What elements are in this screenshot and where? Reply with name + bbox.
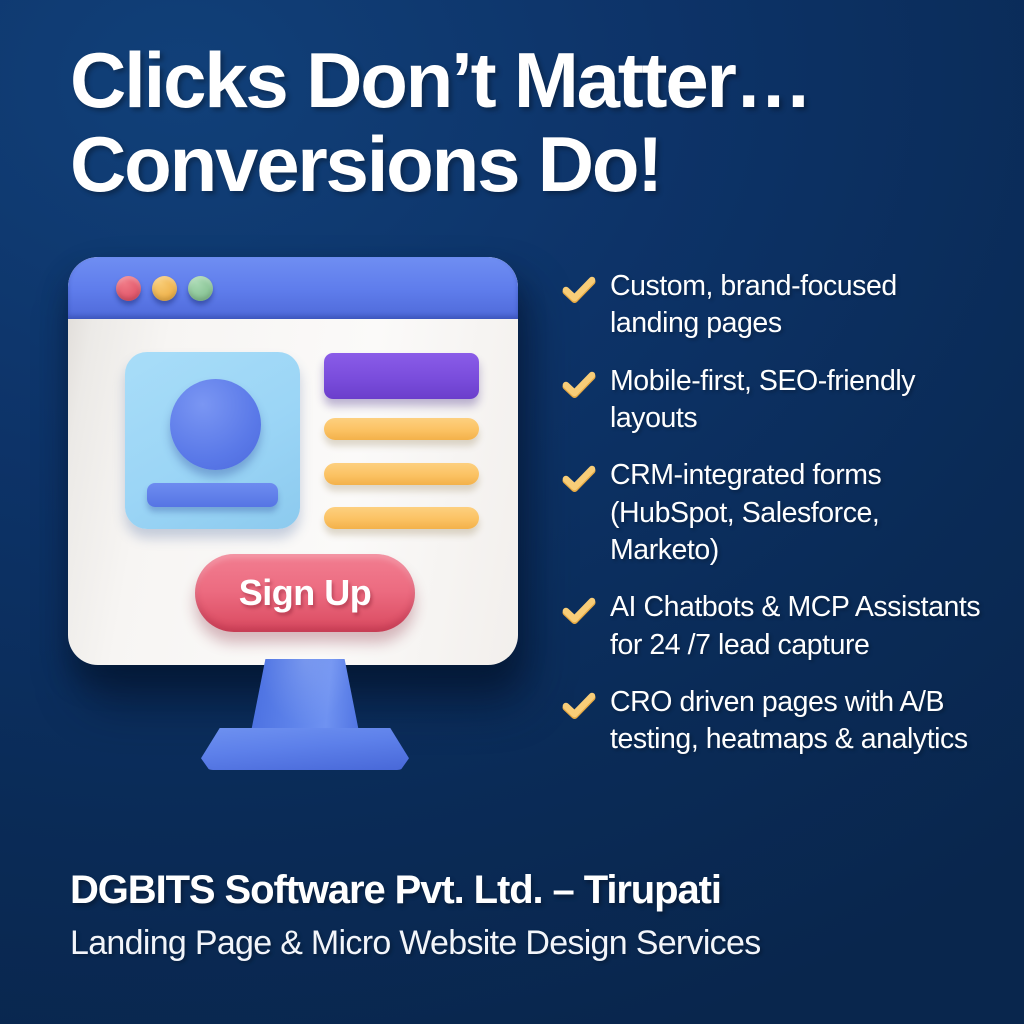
close-dot-icon [116, 276, 141, 301]
feature-list: Custom, brand-focused landing pages Mobi… [562, 268, 992, 779]
list-item: Mobile-first, SEO-friendly layouts [562, 363, 992, 438]
monitor-stand-neck [250, 659, 360, 737]
monitor-screen: Sign Up [68, 257, 518, 665]
maximize-dot-icon [188, 276, 213, 301]
monitor-stand-base [201, 728, 409, 770]
marketing-poster: Clicks Don’t Matter… Conversions Do! Sig… [0, 0, 1024, 1024]
headline-line-2: Conversions Do! [70, 126, 970, 202]
check-icon [562, 690, 596, 724]
services-tagline: Landing Page & Micro Website Design Serv… [70, 924, 970, 963]
check-icon [562, 595, 596, 629]
list-item-label: CRO driven pages with A/B testing, heatm… [610, 684, 992, 759]
content-block-purple [324, 353, 479, 399]
avatar-name-placeholder-bar [147, 483, 278, 507]
headline: Clicks Don’t Matter… Conversions Do! [70, 42, 970, 203]
sign-up-label: Sign Up [239, 572, 371, 614]
list-item: Custom, brand-focused landing pages [562, 268, 992, 343]
list-item-label: Mobile-first, SEO-friendly layouts [610, 363, 992, 438]
content-bar-amber-3 [324, 507, 479, 529]
monitor-illustration: Sign Up [62, 255, 542, 775]
company-name: DGBITS Software Pvt. Ltd. – Tirupati [70, 868, 970, 913]
list-item: CRM-integrated forms (HubSpot, Salesforc… [562, 457, 992, 569]
check-icon [562, 369, 596, 403]
content-bar-amber-2 [324, 463, 479, 485]
list-item: CRO driven pages with A/B testing, heatm… [562, 684, 992, 759]
check-icon [562, 463, 596, 497]
browser-titlebar [68, 257, 518, 319]
list-item-label: AI Chatbots & MCP Assistants for 24 /7 l… [610, 589, 992, 664]
avatar [170, 379, 261, 470]
content-bar-amber-1 [324, 418, 479, 440]
check-icon [562, 274, 596, 308]
sign-up-button[interactable]: Sign Up [195, 554, 415, 632]
avatar-card [125, 352, 300, 529]
list-item-label: CRM-integrated forms (HubSpot, Salesforc… [610, 457, 992, 569]
footer: DGBITS Software Pvt. Ltd. – Tirupati Lan… [70, 868, 970, 963]
minimize-dot-icon [152, 276, 177, 301]
list-item: AI Chatbots & MCP Assistants for 24 /7 l… [562, 589, 992, 664]
list-item-label: Custom, brand-focused landing pages [610, 268, 992, 343]
headline-line-1: Clicks Don’t Matter… [70, 42, 970, 118]
